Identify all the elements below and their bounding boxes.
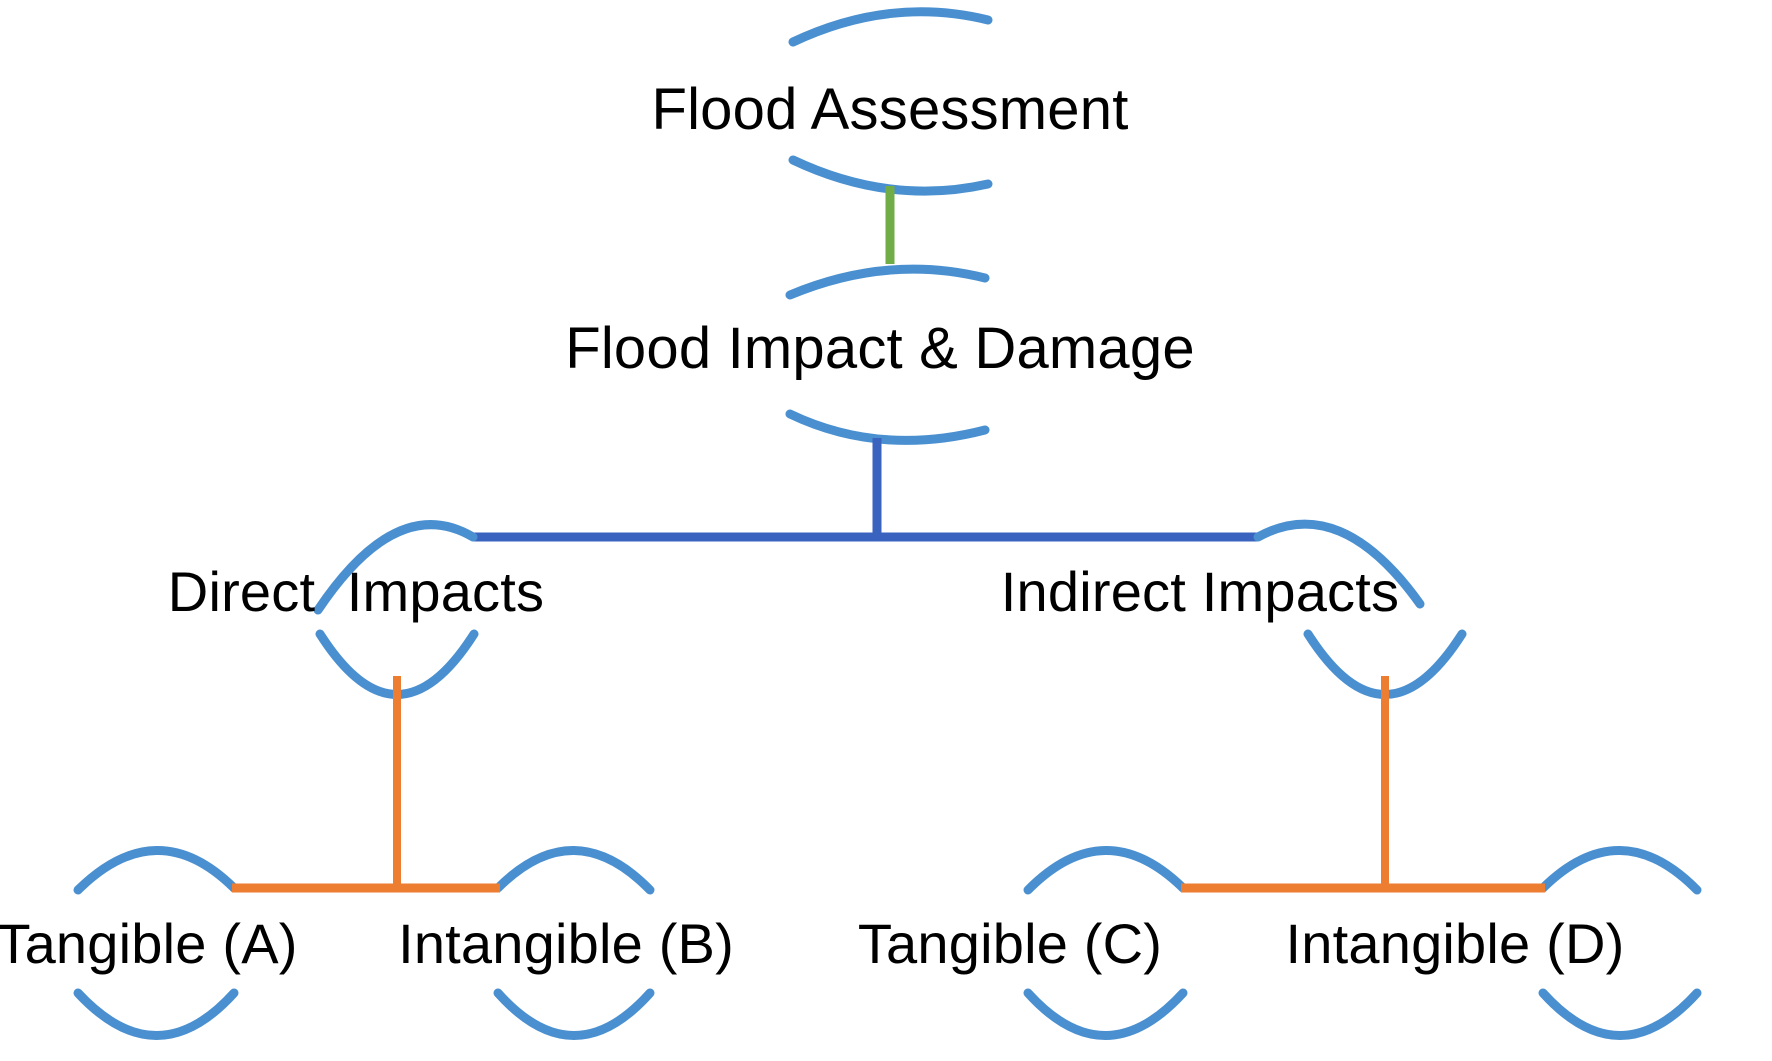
node-label-flood-impact-damage: Flood Impact & Damage [565,320,1195,378]
root-node-top-arc [793,12,988,42]
node-label-root: Flood Assessment [651,81,1128,139]
tangible-a-top-arc [78,850,234,890]
intangible-b-top-arc [498,850,650,890]
impact-node-top-arc [790,269,985,295]
node-label-intangible-b: Intangible (B) [398,916,734,972]
node-label-indirect-impacts: Indirect Impacts [1001,564,1399,620]
tangible-c-bottom-arc [1028,993,1183,1036]
intangible-d-top-arc [1543,850,1697,890]
intangible-d-bottom-arc [1543,993,1697,1036]
diagram-canvas: Flood Assessment Flood Impact & Damage D… [0,0,1772,1061]
node-label-direct-impacts: Direct Impacts [168,564,544,620]
diagram-connectors-and-arcs [0,0,1772,1061]
impact-node-bottom-arc [790,414,985,440]
node-label-intangible-d: Intangible (D) [1286,916,1625,972]
node-label-tangible-a: Tangible (A) [0,916,298,972]
intangible-b-bottom-arc [498,993,650,1036]
tangible-a-bottom-arc [78,993,234,1036]
tangible-c-top-arc [1028,850,1183,890]
node-label-tangible-c: Tangible (C) [858,916,1162,972]
